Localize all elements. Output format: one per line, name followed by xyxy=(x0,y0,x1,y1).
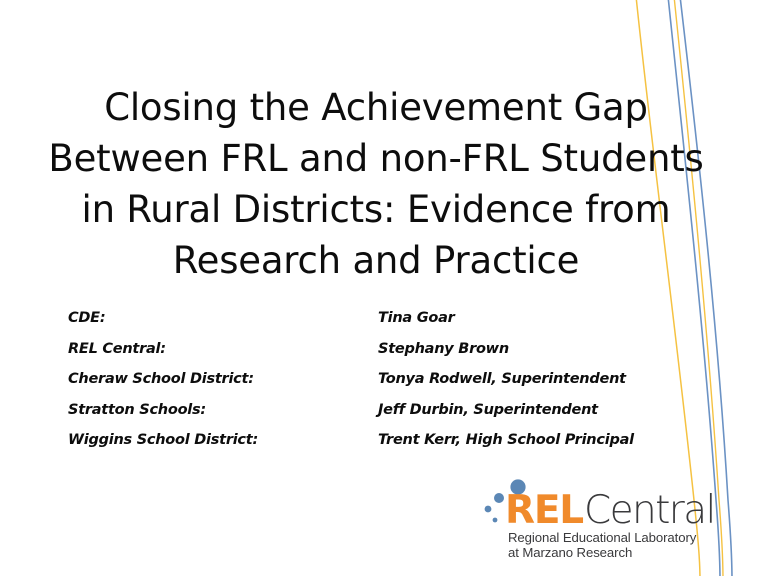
presenter-name: Trent Kerr, High School Principal xyxy=(378,432,688,448)
presenter-row: Wiggins School District: Trent Kerr, Hig… xyxy=(68,432,688,463)
presenter-row: REL Central: Stephany Brown xyxy=(68,341,688,372)
presenter-organization: CDE: xyxy=(68,310,378,326)
presenter-name: Jeff Durbin, Superintendent xyxy=(378,402,688,418)
logo-word-central: Central xyxy=(584,488,715,533)
slide-title-line-4: Research and Practice xyxy=(40,235,712,286)
slide-title-line-1: Closing the Achievement Gap xyxy=(40,82,712,133)
presentation-slide: Closing the Achievement Gap Between FRL … xyxy=(0,0,768,576)
logo-dot-small xyxy=(485,506,492,513)
logo-tagline: Regional Educational Laboratory at Marza… xyxy=(508,531,696,560)
presenter-organization: Wiggins School District: xyxy=(68,432,378,448)
presenter-row: Stratton Schools: Jeff Durbin, Superinte… xyxy=(68,402,688,433)
presenter-row: Cheraw School District: Tonya Rodwell, S… xyxy=(68,371,688,402)
presenter-organization: Cheraw School District: xyxy=(68,371,378,387)
logo-tagline-line-1: Regional Educational Laboratory xyxy=(508,531,696,546)
slide-title-line-3: in Rural Districts: Evidence from xyxy=(40,184,712,235)
presenter-organization: REL Central: xyxy=(68,341,378,357)
rel-central-logo: RELCentral Regional Educational Laborato… xyxy=(478,478,723,562)
logo-tagline-line-2: at Marzano Research xyxy=(508,546,696,561)
logo-word-rel: REL xyxy=(505,488,583,533)
presenter-row: CDE: Tina Goar xyxy=(68,310,688,341)
presenter-list: CDE: Tina Goar REL Central: Stephany Bro… xyxy=(68,310,688,463)
presenter-name: Tina Goar xyxy=(378,310,688,326)
logo-wordmark: RELCentral xyxy=(505,490,715,532)
slide-title-line-2: Between FRL and non-FRL Students xyxy=(40,133,712,184)
logo-dot-medium xyxy=(494,493,504,503)
presenter-organization: Stratton Schools: xyxy=(68,402,378,418)
slide-title: Closing the Achievement Gap Between FRL … xyxy=(40,82,712,286)
presenter-name: Stephany Brown xyxy=(378,341,688,357)
logo-dot-tiny xyxy=(493,518,498,523)
presenter-name: Tonya Rodwell, Superintendent xyxy=(378,371,688,387)
